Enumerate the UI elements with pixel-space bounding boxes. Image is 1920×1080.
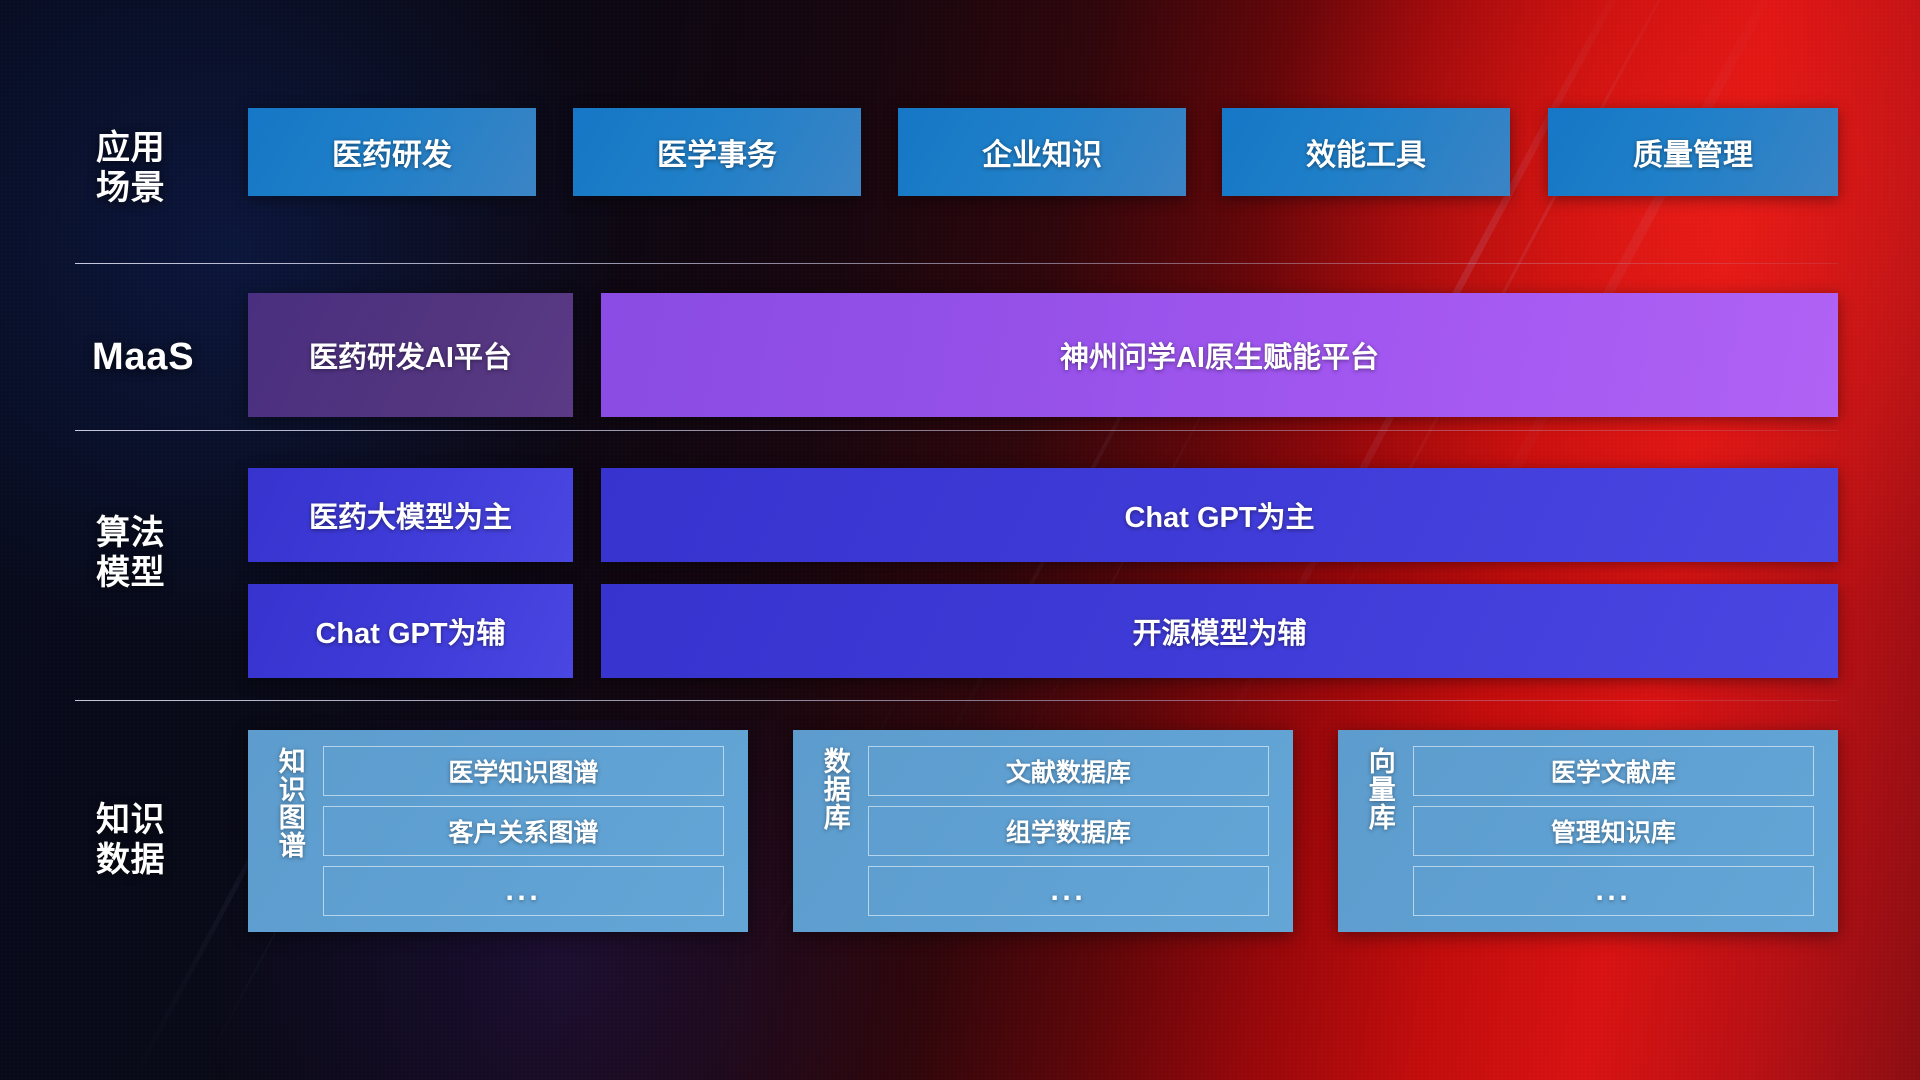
app-box-3-label: 企业知识 (982, 130, 1102, 174)
knowledge-item-more[interactable]: ... (323, 866, 724, 916)
algo-box-chatgpt-main-label: Chat GPT为主 (1124, 494, 1314, 536)
knowledge-item-more[interactable]: ... (1413, 866, 1814, 916)
divider-algorithm-knowledge (75, 700, 1838, 701)
maas-box-shenzhou-platform-label: 神州问学AI原生赋能平台 (1060, 334, 1379, 376)
divider-application-maas (75, 263, 1838, 264)
algo-box-opensource-aux-label: 开源模型为辅 (1132, 610, 1306, 652)
app-box-2-label: 医学事务 (657, 130, 777, 174)
knowledge-panel-database[interactable]: 数据库 文献数据库 组学数据库 ... (793, 730, 1293, 932)
knowledge-item[interactable]: 医学文献库 (1413, 746, 1814, 796)
app-box-1-label: 医药研发 (332, 130, 452, 174)
app-box-2[interactable]: 医学事务 (573, 108, 861, 196)
algo-box-pharma-main-label: 医药大模型为主 (309, 494, 512, 536)
knowledge-item[interactable]: 组学数据库 (868, 806, 1269, 856)
app-box-4-label: 效能工具 (1306, 130, 1426, 174)
maas-box-pharma-platform-label: 医药研发AI平台 (309, 334, 512, 376)
knowledge-panel-graph[interactable]: 知识图谱 医学知识图谱 客户关系图谱 ... (248, 730, 748, 932)
layer-label-algorithm: 算法 模型 (96, 513, 246, 593)
architecture-diagram-canvas: 应用 场景 医药研发 医学事务 企业知识 效能工具 质量管理 MaaS 医药研发… (0, 0, 1920, 1080)
knowledge-item[interactable]: 客户关系图谱 (323, 806, 724, 856)
app-box-1[interactable]: 医药研发 (248, 108, 536, 196)
app-box-4[interactable]: 效能工具 (1222, 108, 1510, 196)
knowledge-item[interactable]: 文献数据库 (868, 746, 1269, 796)
divider-maas-algorithm (75, 430, 1838, 431)
layer-label-knowledge: 知识 数据 (96, 800, 256, 880)
knowledge-item[interactable]: 医学知识图谱 (323, 746, 724, 796)
app-box-5-label: 质量管理 (1633, 130, 1753, 174)
knowledge-panel-vector-title: 向量库 (1364, 747, 1395, 915)
algo-box-opensource-aux[interactable]: 开源模型为辅 (601, 584, 1838, 678)
knowledge-item[interactable]: 管理知识库 (1413, 806, 1814, 856)
knowledge-panel-vector[interactable]: 向量库 医学文献库 管理知识库 ... (1338, 730, 1838, 932)
layer-label-application: 应用 场景 (96, 128, 246, 208)
knowledge-panel-graph-title: 知识图谱 (274, 747, 305, 915)
knowledge-panel-database-title: 数据库 (819, 747, 850, 915)
algo-box-pharma-main[interactable]: 医药大模型为主 (248, 468, 573, 562)
app-box-3[interactable]: 企业知识 (898, 108, 1186, 196)
knowledge-item-more[interactable]: ... (868, 866, 1269, 916)
algo-box-chatgpt-main[interactable]: Chat GPT为主 (601, 468, 1838, 562)
algo-box-chatgpt-aux[interactable]: Chat GPT为辅 (248, 584, 573, 678)
maas-box-shenzhou-platform[interactable]: 神州问学AI原生赋能平台 (601, 293, 1838, 417)
algo-box-chatgpt-aux-label: Chat GPT为辅 (315, 610, 505, 652)
app-box-5[interactable]: 质量管理 (1548, 108, 1838, 196)
maas-box-pharma-platform[interactable]: 医药研发AI平台 (248, 293, 573, 417)
